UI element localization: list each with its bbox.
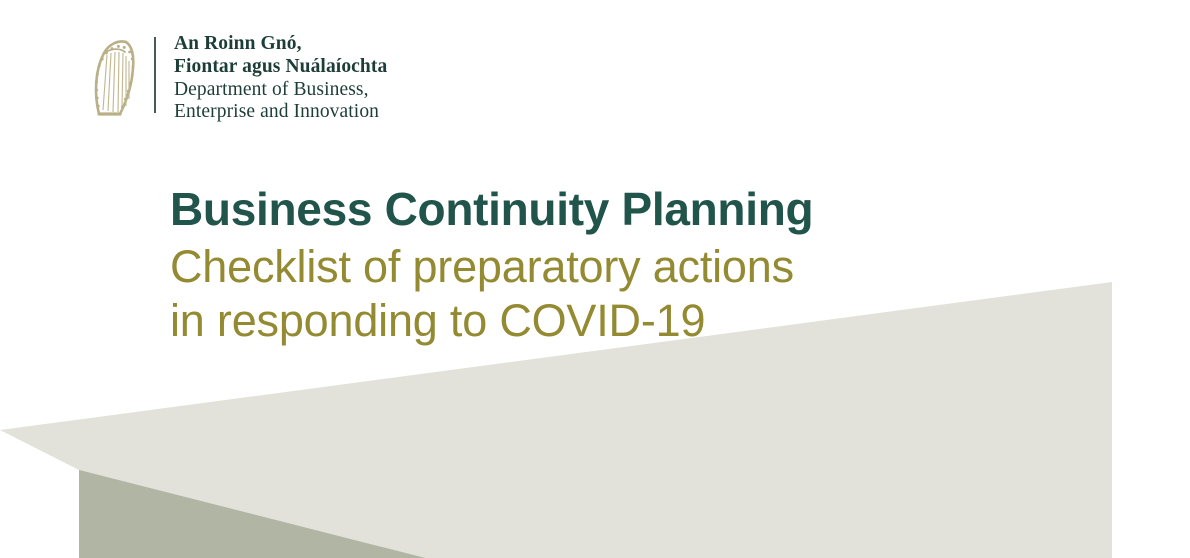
logo-irish-line-1: An Roinn Gnó, [174, 33, 387, 56]
logo-irish-line-2: Fiontar agus Nuálaíochta [174, 56, 387, 79]
slide-title: Business Continuity Planning [170, 182, 813, 236]
slide-subtitle-line-2: in responding to COVID-19 [170, 294, 813, 348]
white-right-band [1112, 0, 1190, 558]
slide-subtitle: Checklist of preparatory actions in resp… [170, 240, 813, 348]
logo-english-line-1: Department of Business, [174, 79, 387, 102]
title-slide: An Roinn Gnó, Fiontar agus Nuálaíochta D… [0, 0, 1190, 558]
department-logo: An Roinn Gnó, Fiontar agus Nuálaíochta D… [88, 33, 387, 124]
logo-wordmark: An Roinn Gnó, Fiontar agus Nuálaíochta D… [174, 33, 387, 124]
irish-harp-icon [88, 36, 142, 120]
slide-subtitle-line-1: Checklist of preparatory actions [170, 240, 813, 294]
headline-block: Business Continuity Planning Checklist o… [170, 182, 813, 348]
logo-divider-rule [154, 37, 156, 113]
logo-english-line-2: Enterprise and Innovation [174, 101, 387, 124]
